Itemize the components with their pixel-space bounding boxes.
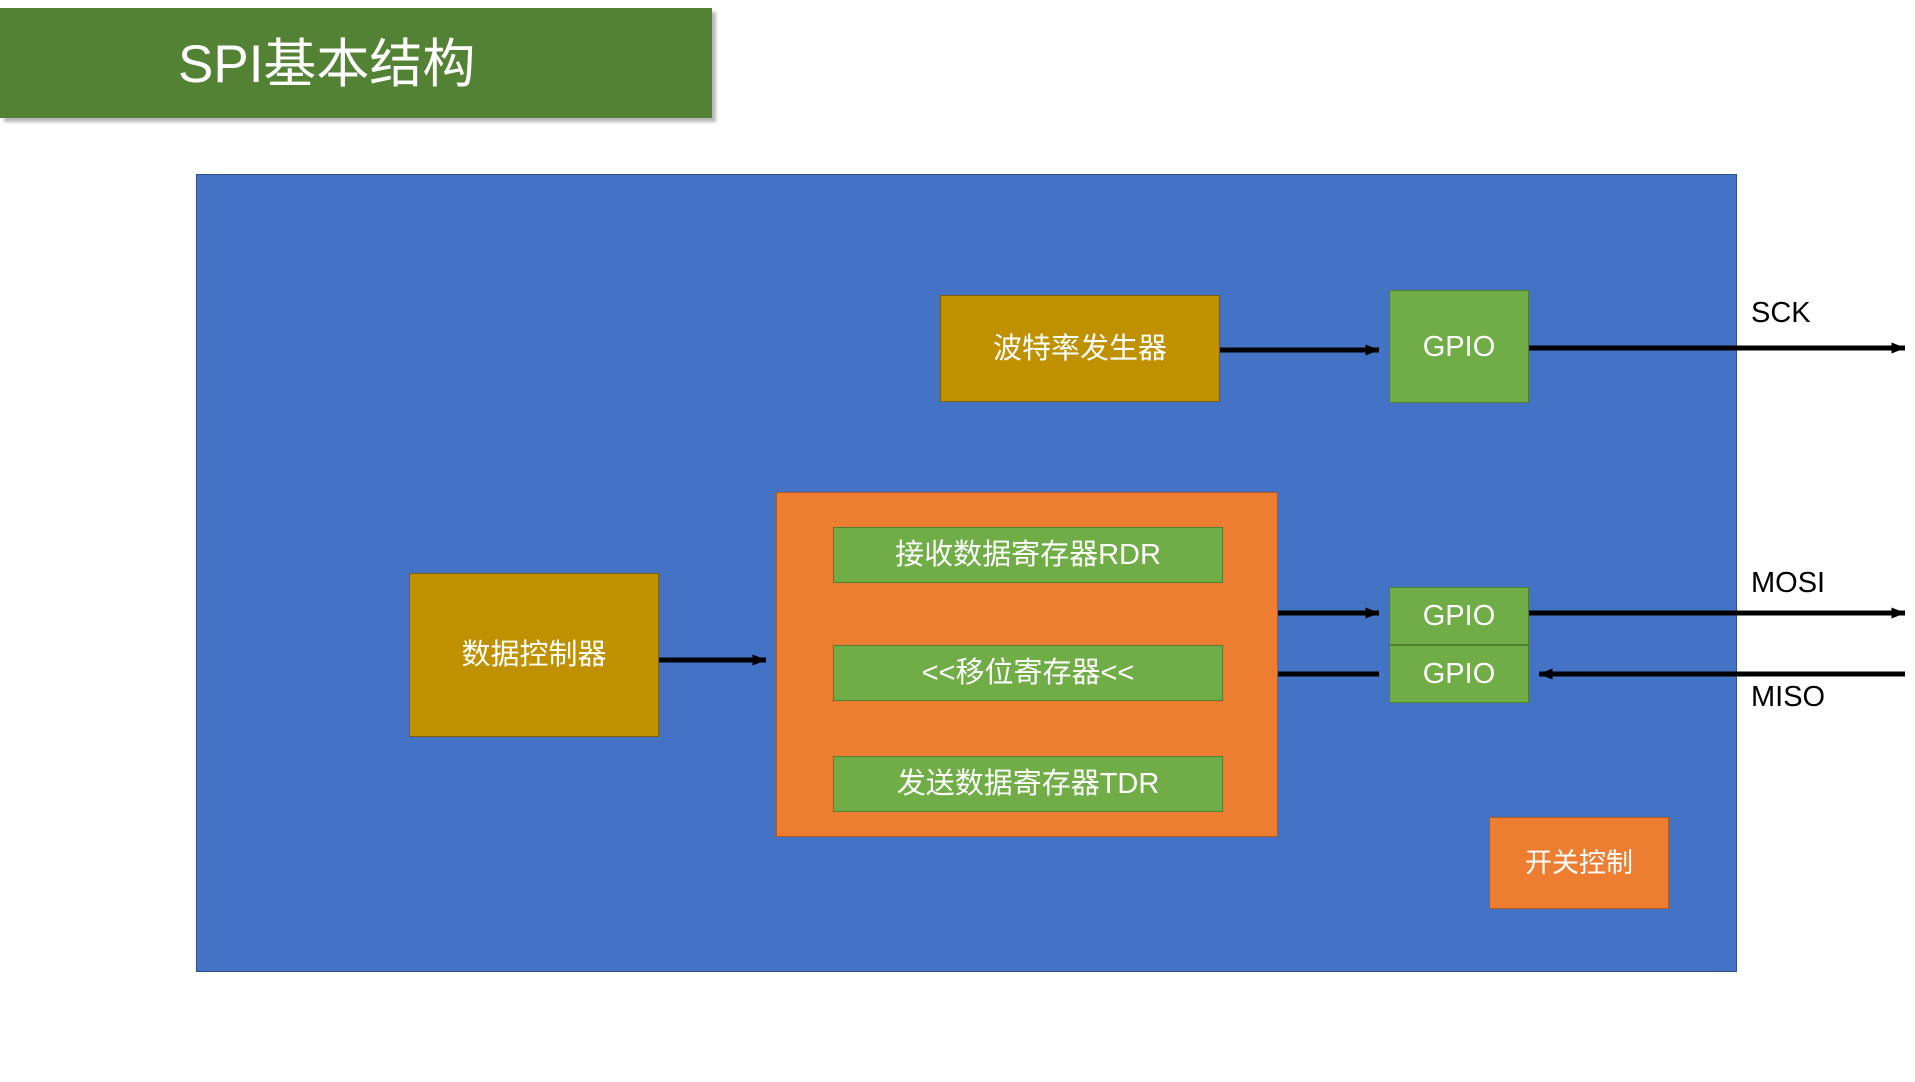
- block-gpio-miso: GPIO: [1389, 645, 1529, 703]
- block-data-controller: 数据控制器: [409, 573, 659, 737]
- slide-canvas: SPI基本结构 波: [0, 0, 1915, 1082]
- block-tx-data-register: 发送数据寄存器TDR: [833, 756, 1223, 812]
- block-gpio-sck: GPIO: [1389, 290, 1529, 403]
- block-baud-rate-generator: 波特率发生器: [940, 295, 1220, 402]
- pin-label-miso: MISO: [1751, 680, 1825, 714]
- block-rx-data-register: 接收数据寄存器RDR: [833, 527, 1223, 583]
- pin-label-mosi: MOSI: [1751, 566, 1825, 600]
- block-switch-control: 开关控制: [1489, 817, 1669, 909]
- page-title: SPI基本结构: [178, 34, 698, 96]
- pin-label-sck: SCK: [1751, 296, 1811, 330]
- block-gpio-mosi: GPIO: [1389, 587, 1529, 645]
- block-shift-register: <<移位寄存器<<: [833, 645, 1223, 701]
- title-banner: SPI基本结构: [0, 8, 712, 118]
